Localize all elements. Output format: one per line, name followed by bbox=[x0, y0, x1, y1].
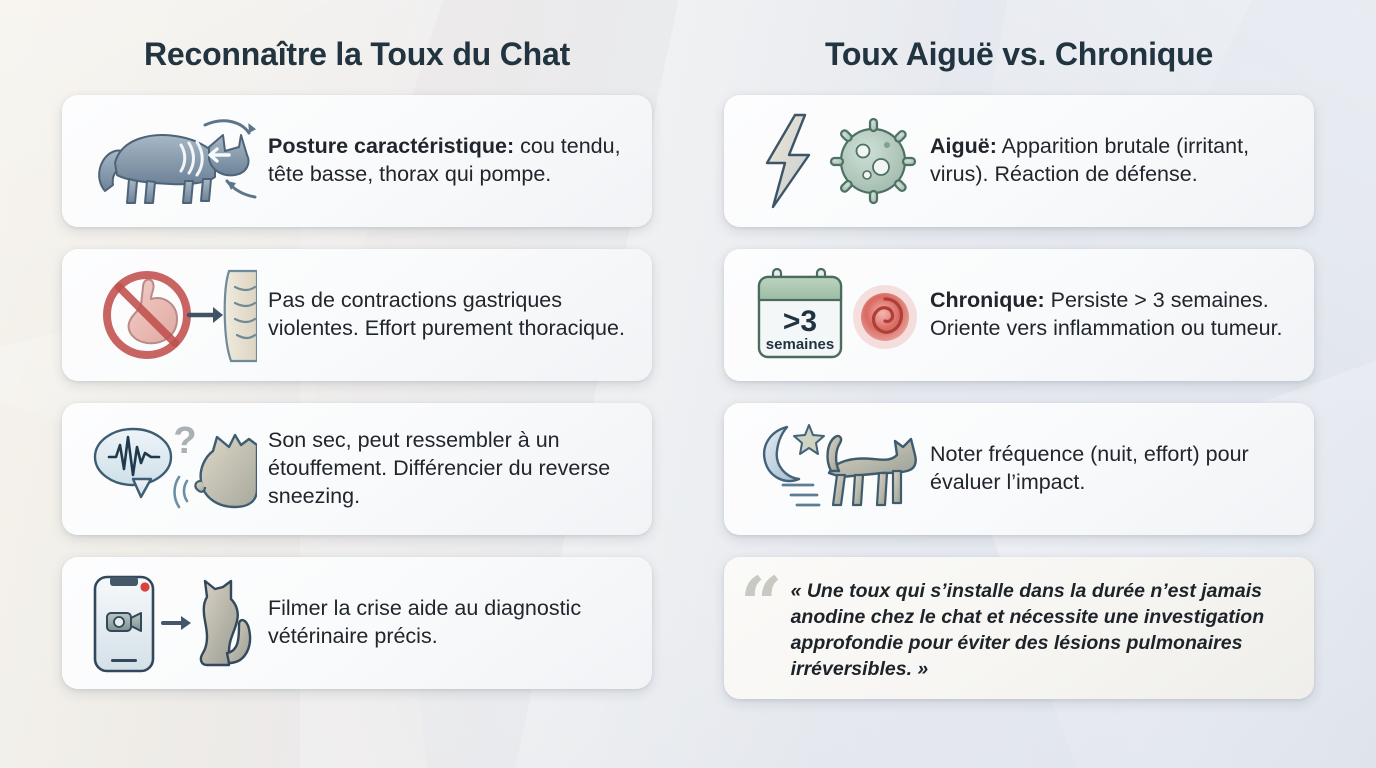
quote-text: « Une toux qui s’installe dans la durée … bbox=[791, 573, 1292, 683]
coughing-cat-posture-icon bbox=[82, 109, 264, 213]
cat-sound-waveform-icon: ? bbox=[82, 417, 264, 521]
card-lead-chronic: Chronique: bbox=[930, 288, 1045, 312]
card-frequency[interactable]: Noter fréquence (nuit, effort) pour éval… bbox=[724, 403, 1314, 535]
card-quote[interactable]: “ « Une toux qui s’installe dans la duré… bbox=[724, 557, 1314, 699]
card-list-left: Posture caractéristique: cou tendu, tête… bbox=[62, 95, 652, 689]
card-list-right: Aiguë: Apparition brutale (irritant, vir… bbox=[724, 95, 1314, 699]
card-film-crisis[interactable]: Filmer la crise aide au diagnostic vétér… bbox=[62, 557, 652, 689]
calendar-three-weeks-inflammation-icon: >3 semaines bbox=[744, 263, 926, 367]
card-chronic[interactable]: >3 semaines Chronique: Persiste > 3 sema… bbox=[724, 249, 1314, 381]
moon-star-walking-cat-icon bbox=[744, 417, 926, 521]
card-acute[interactable]: Aiguë: Apparition brutale (irritant, vir… bbox=[724, 95, 1314, 227]
column-title-left: Reconnaître la Toux du Chat bbox=[62, 36, 652, 73]
card-text-frequency: Noter fréquence (nuit, effort) pour éval… bbox=[926, 441, 1294, 497]
card-text-film-crisis: Filmer la crise aide au diagnostic vétér… bbox=[264, 595, 632, 651]
card-lead-posture: Posture caractéristique: bbox=[268, 134, 514, 158]
card-text-dry-sound: Son sec, peut ressembler à un étouffemen… bbox=[264, 427, 632, 511]
svg-text:?: ? bbox=[173, 420, 196, 462]
infographic-layout: Reconnaître la Toux du Chat bbox=[0, 0, 1376, 768]
card-no-gastric[interactable]: Pas de contractions gastriques violentes… bbox=[62, 249, 652, 381]
column-title-right: Toux Aiguë vs. Chronique bbox=[724, 36, 1314, 73]
card-dry-sound[interactable]: ? Son sec, peut ressembler à un étouffem… bbox=[62, 403, 652, 535]
no-stomach-contraction-thorax-icon bbox=[82, 263, 264, 367]
card-text-posture: Posture caractéristique: cou tendu, tête… bbox=[264, 133, 632, 189]
svg-text:>3: >3 bbox=[783, 305, 817, 338]
svg-text:semaines: semaines bbox=[766, 336, 834, 353]
card-posture[interactable]: Posture caractéristique: cou tendu, tête… bbox=[62, 95, 652, 227]
quote-mark-icon: “ bbox=[740, 575, 783, 636]
card-lead-acute: Aiguë: bbox=[930, 134, 997, 158]
lightning-virus-icon bbox=[744, 109, 926, 213]
smartphone-record-cat-icon bbox=[82, 571, 264, 675]
card-text-chronic: Chronique: Persiste > 3 semaines. Orient… bbox=[926, 287, 1294, 343]
column-acute-vs-chronic: Toux Aiguë vs. Chronique bbox=[724, 0, 1314, 768]
column-recognize: Reconnaître la Toux du Chat bbox=[62, 0, 652, 768]
card-text-no-gastric: Pas de contractions gastriques violentes… bbox=[264, 287, 632, 343]
card-text-acute: Aiguë: Apparition brutale (irritant, vir… bbox=[926, 133, 1294, 189]
